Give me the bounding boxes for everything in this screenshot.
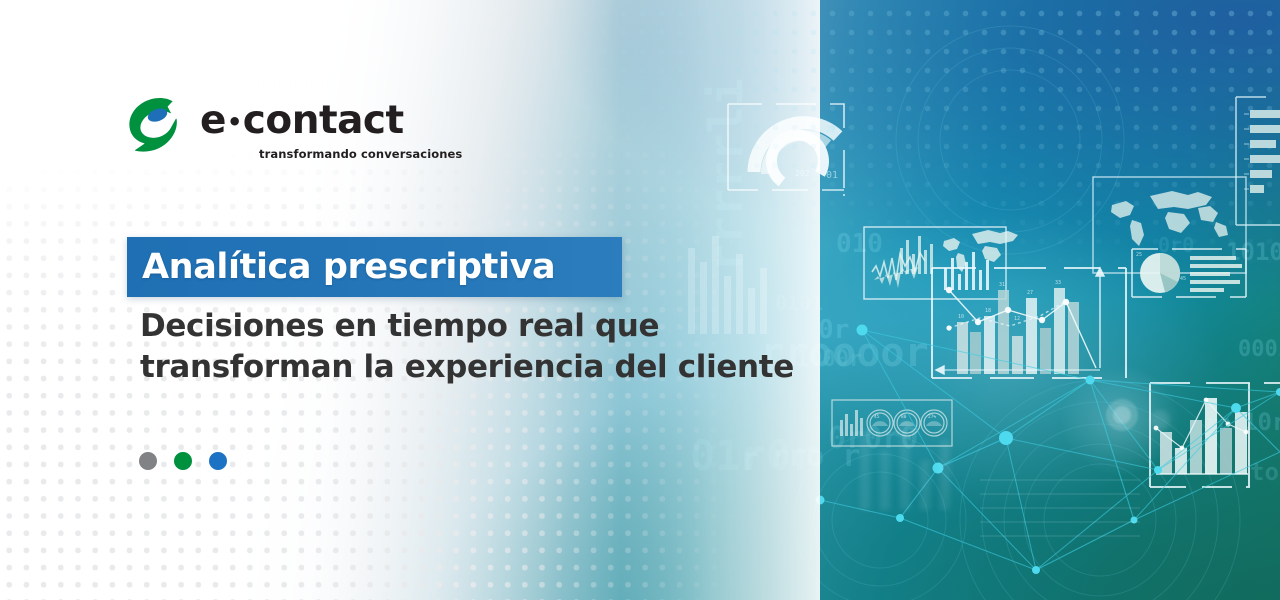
wordmark-contact: contact <box>243 98 404 143</box>
title-banner: Analítica prescriptiva <box>127 237 622 297</box>
page-subtitle: Decisiones en tiempo real que transforma… <box>140 306 900 387</box>
indicator-dot-gray[interactable] <box>139 452 157 470</box>
wordmark-separator-dot: • <box>227 108 242 136</box>
subtitle-line-2: transforman la experiencia del cliente <box>140 347 900 388</box>
brand-logo[interactable]: e•contact transformando conversaciones <box>128 97 462 161</box>
econtact-e-swoosh-logo-icon <box>128 97 184 159</box>
indicator-dots[interactable] <box>139 452 227 470</box>
indicator-dot-green[interactable] <box>174 452 192 470</box>
subtitle-line-1: Decisiones en tiempo real que <box>140 306 900 347</box>
wordmark-e: e <box>200 98 226 143</box>
brand-tagline: transformando conversaciones <box>259 147 462 161</box>
hero-banner: rrrrrli rroooor 010 0r 1000r 0101 01r0r … <box>0 0 1280 600</box>
page-title: Analítica prescriptiva <box>142 247 555 287</box>
brand-wordmark: e•contact <box>200 101 462 140</box>
indicator-dot-blue[interactable] <box>209 452 227 470</box>
